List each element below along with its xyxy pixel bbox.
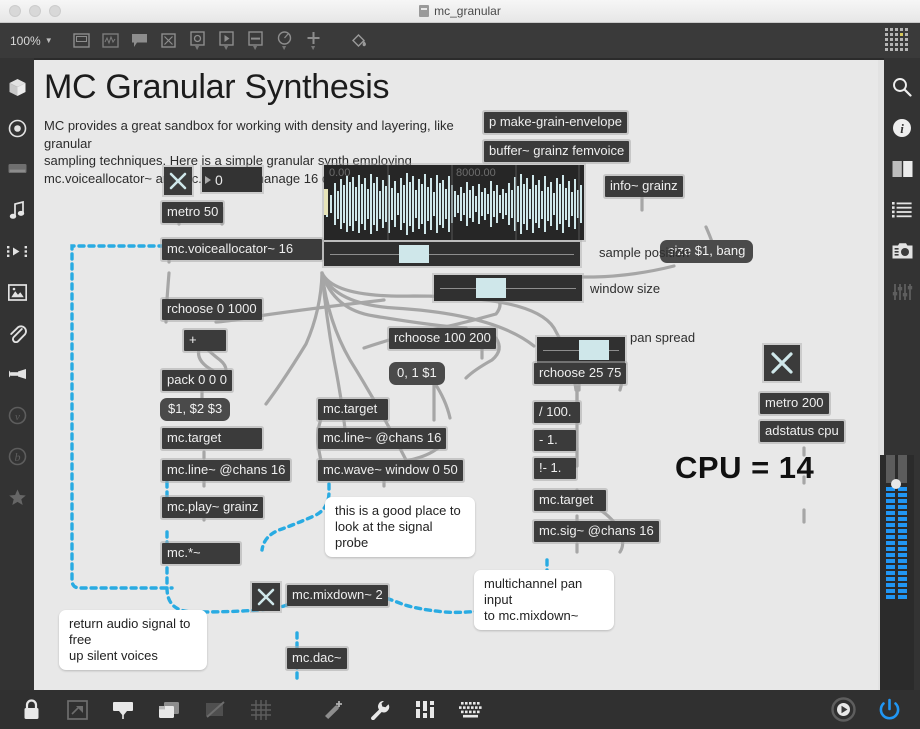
dial-button[interactable]: ▼ xyxy=(270,26,299,56)
grid-view-button[interactable] xyxy=(884,27,910,59)
vizzie-icon[interactable]: v xyxy=(6,404,28,426)
paint-bucket-icon xyxy=(350,32,369,49)
object-mc-sig[interactable]: mc.sig~ @chans 16 xyxy=(534,521,659,542)
slider-button[interactable]: ▼ xyxy=(241,26,270,56)
object-rchoose-0-1000[interactable]: rchoose 0 1000 xyxy=(162,299,262,320)
window-titlebar: mc_granular xyxy=(0,0,920,23)
message-0-1[interactable]: 0, 1 $1 xyxy=(389,362,445,385)
object-plus[interactable]: + xyxy=(184,330,226,351)
comment-pan-spread: pan spread xyxy=(630,330,695,346)
number-box-value: 0 xyxy=(215,172,223,188)
slider-knob[interactable] xyxy=(399,245,429,263)
image-icon[interactable] xyxy=(6,281,28,303)
audio-power-icon xyxy=(878,698,901,721)
chevron-down-icon: ▼ xyxy=(223,47,230,51)
toggle-dac[interactable] xyxy=(252,583,280,611)
audio-play-button[interactable] xyxy=(820,695,866,725)
object-mc-target-2[interactable]: mc.target xyxy=(318,399,388,420)
number-box-button[interactable]: ▼ xyxy=(183,26,212,56)
lock-button[interactable] xyxy=(8,695,54,725)
grid-toggle-button[interactable] xyxy=(238,695,284,725)
object-mc-target-3[interactable]: mc.target xyxy=(534,490,606,511)
bubble-return-audio-line1: return audio signal to free xyxy=(69,616,190,647)
toggle-icon xyxy=(160,33,177,48)
chevron-down-icon: ▼ xyxy=(310,47,317,51)
object-pack-0-0-0[interactable]: pack 0 0 0 xyxy=(162,370,232,391)
comment-icon xyxy=(131,33,148,48)
message-button[interactable]: ▼ xyxy=(212,26,241,56)
slider-window-size[interactable] xyxy=(434,275,582,301)
duplicate-window-button[interactable] xyxy=(146,695,192,725)
snap-to-object-button[interactable] xyxy=(192,695,238,725)
window-title: mc_granular xyxy=(0,4,920,18)
number-box-icon xyxy=(189,31,206,46)
toggle-x-icon xyxy=(764,345,800,381)
grid-toggle-icon xyxy=(251,700,271,720)
right-sidebar: i xyxy=(884,58,920,690)
add-annotation-button[interactable] xyxy=(310,695,356,725)
toggle-cpu-metro[interactable] xyxy=(764,345,800,381)
add-object-icon xyxy=(306,31,321,46)
pin-patcher-icon xyxy=(112,700,134,720)
slider-icon xyxy=(247,31,264,46)
waveform-label-right: 8000.00 xyxy=(456,167,496,179)
dial-icon xyxy=(276,31,293,46)
left-sidebar: v b xyxy=(0,58,34,690)
plug-icon[interactable] xyxy=(6,363,28,385)
slider-knob[interactable] xyxy=(579,340,609,360)
patcher-canvas-wrap: MC Granular Synthesis MC provides a grea… xyxy=(34,58,884,690)
parameters-sliders-icon[interactable] xyxy=(891,281,913,303)
object-mc-target-1[interactable]: mc.target xyxy=(162,428,262,449)
object-rchoose-100-200[interactable]: rchoose 100 200 xyxy=(389,328,496,349)
slider-pan-spread[interactable] xyxy=(537,337,625,363)
zoom-level-selector[interactable]: 100% ▼ xyxy=(10,34,53,48)
pin-patcher-button[interactable] xyxy=(100,695,146,725)
duplicate-window-icon xyxy=(158,701,180,719)
number-box-metro-interval[interactable]: 0 xyxy=(202,167,262,192)
search-icon[interactable] xyxy=(891,76,913,98)
keyboard-shortcuts-button[interactable] xyxy=(448,695,494,725)
bubble-signal-probe: this is a good place to look at the sign… xyxy=(325,497,475,557)
svg-text:v: v xyxy=(15,411,20,423)
bach-icon[interactable]: b xyxy=(6,445,28,467)
favorites-star-icon[interactable] xyxy=(6,486,28,508)
list-icon[interactable] xyxy=(891,199,913,221)
package-icon[interactable] xyxy=(6,76,28,98)
snap-to-object-icon xyxy=(205,701,226,719)
add-annotation-icon xyxy=(322,700,344,720)
signal-scope-icon xyxy=(102,33,119,48)
presentation-mode-button[interactable] xyxy=(54,695,100,725)
add-object-button[interactable]: ▼ xyxy=(299,26,328,56)
toggle-button[interactable] xyxy=(154,26,183,56)
comment-sample-position: sample position xyxy=(599,245,689,261)
wrench-inspector-icon xyxy=(369,700,390,720)
object-divide-100[interactable]: / 100. xyxy=(534,402,580,423)
bubble-multichannel-pan: multichannel pan input to mc.mixdown~ xyxy=(474,570,614,630)
bubble-return-audio-line2: up silent voices xyxy=(69,648,158,663)
reference-book-icon[interactable] xyxy=(891,158,913,180)
audio-meter-panel[interactable] xyxy=(880,455,914,690)
chevron-down-icon: ▼ xyxy=(194,47,201,51)
paperclip-icon[interactable] xyxy=(6,322,28,344)
zoom-level-value: 100% xyxy=(10,34,41,48)
stereo-level-meter xyxy=(880,455,914,610)
toggle-dsp-metro50[interactable] xyxy=(164,167,192,195)
bubble-signal-probe-line2: look at the signal probe xyxy=(335,519,433,550)
object-palette-button[interactable] xyxy=(67,26,96,56)
page-title: MC Granular Synthesis xyxy=(44,68,389,107)
object-info-grainz[interactable]: info~ grainz xyxy=(605,176,683,197)
cpu-readout: CPU = 14 xyxy=(675,450,814,486)
object-metro-50[interactable]: metro 50 xyxy=(162,202,223,223)
patcher-body: v b xyxy=(0,58,920,690)
object-mc-line-2[interactable]: mc.line~ @chans 16 xyxy=(318,428,446,449)
patcher-bottom-toolbar xyxy=(0,690,920,729)
mixer-icon xyxy=(415,700,435,719)
bubble-multichannel-pan-line1: multichannel pan input xyxy=(484,576,582,607)
bubble-signal-probe-line1: this is a good place to xyxy=(335,503,461,518)
clips-icon[interactable] xyxy=(6,240,28,262)
object-minus-1[interactable]: - 1. xyxy=(534,430,576,451)
object-mc-mixdown[interactable]: mc.mixdown~ 2 xyxy=(287,585,388,606)
object-mc-voiceallocator[interactable]: mc.voiceallocator~ 16 xyxy=(162,239,322,260)
presentation-mode-icon xyxy=(67,700,88,720)
scope-button[interactable] xyxy=(96,26,125,56)
chevron-down-icon: ▼ xyxy=(252,47,259,51)
bubble-return-audio: return audio signal to free up silent vo… xyxy=(59,610,207,670)
chevron-down-icon: ▼ xyxy=(45,36,53,45)
object-buffer-grainz[interactable]: buffer~ grainz femvoice xyxy=(484,141,629,162)
audio-power-button[interactable] xyxy=(866,695,912,725)
number-box-triangle-icon xyxy=(205,176,211,184)
waveform-graphic xyxy=(324,165,584,240)
object-palette-icon xyxy=(73,33,90,48)
object-metro-200[interactable]: metro 200 xyxy=(760,393,829,414)
info-icon[interactable]: i xyxy=(891,117,913,139)
toggle-x-icon xyxy=(252,583,280,611)
max-document-icon xyxy=(419,5,429,17)
object-mc-multiply[interactable]: mc.*~ xyxy=(162,543,240,564)
object-reverse-minus-1[interactable]: !- 1. xyxy=(534,458,576,479)
patcher-toolbar: 100% ▼ ▼ ▼ ▼ xyxy=(0,23,920,58)
music-note-icon[interactable] xyxy=(6,199,28,221)
object-mc-line-1[interactable]: mc.line~ @chans 16 xyxy=(162,460,290,481)
slider-track xyxy=(330,254,574,255)
snapshot-camera-icon[interactable] xyxy=(891,240,913,262)
object-p-make-grain-envelope[interactable]: p make-grain-envelope xyxy=(484,112,627,133)
mixer-button[interactable] xyxy=(402,695,448,725)
description-line-1: MC provides a great sandbox for working … xyxy=(44,117,464,152)
keyboard-drawer-icon[interactable] xyxy=(6,158,28,180)
audio-play-icon xyxy=(831,697,856,722)
svg-text:b: b xyxy=(14,450,20,464)
chevron-down-icon: ▼ xyxy=(281,47,288,51)
bgcolor-button[interactable] xyxy=(345,26,374,56)
lock-icon xyxy=(22,699,41,720)
keyboard-shortcuts-icon xyxy=(459,701,483,718)
toggle-x-icon xyxy=(164,167,192,195)
object-adstatus-cpu[interactable]: adstatus cpu xyxy=(760,421,844,442)
patcher-canvas[interactable]: MC Granular Synthesis MC provides a grea… xyxy=(34,60,884,690)
grid-icon xyxy=(884,27,910,54)
waveform-label-left: 0.00 xyxy=(329,167,350,179)
window-title-text: mc_granular xyxy=(434,4,501,18)
object-rchoose-25-75[interactable]: rchoose 25 75 xyxy=(534,363,626,384)
comment-window-size: window size xyxy=(590,281,660,297)
bubble-multichannel-pan-line2: to mc.mixdown~ xyxy=(484,608,578,623)
object-mc-wave-window[interactable]: mc.wave~ window 0 50 xyxy=(318,460,463,481)
waveform-display-grainz[interactable]: 0.00 8000.00 xyxy=(324,165,584,240)
message-icon xyxy=(218,31,235,46)
slider-track xyxy=(440,288,576,289)
comment-button[interactable] xyxy=(125,26,154,56)
inspector-button[interactable] xyxy=(356,695,402,725)
message-1-2-3[interactable]: $1, $2 $3 xyxy=(160,398,230,421)
slider-knob[interactable] xyxy=(476,278,506,298)
svg-text:i: i xyxy=(900,121,904,136)
object-mc-play-grainz[interactable]: mc.play~ grainz xyxy=(162,497,263,518)
object-mc-dac[interactable]: mc.dac~ xyxy=(287,648,347,669)
record-circle-icon[interactable] xyxy=(6,117,28,139)
slider-sample-position[interactable] xyxy=(324,242,580,266)
